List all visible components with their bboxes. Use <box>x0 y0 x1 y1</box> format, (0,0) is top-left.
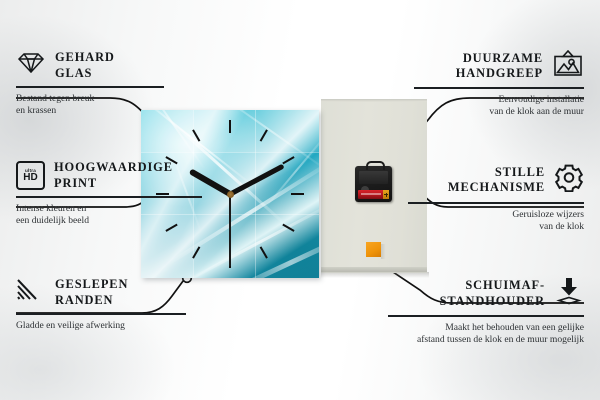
second-hand <box>229 194 231 266</box>
feature-title-line2: STANDHOUDER <box>440 294 545 308</box>
feature-header: ultra HD HOOGWAARDIGEPRINT <box>16 160 202 191</box>
feature-description: Bestand tegen breuk en krassen <box>16 93 186 117</box>
feature-title-line2: RANDEN <box>55 293 113 307</box>
feature-title: GEHARDGLAS <box>55 50 115 81</box>
back-plate-bottom-edge <box>321 267 427 272</box>
feature-divider <box>388 315 584 317</box>
infographic-canvas: GEHARDGLAS Bestand tegen breuk en krasse… <box>0 0 600 400</box>
feature-desc-line1: Eenvoudige installatie <box>498 94 584 105</box>
movement-panel <box>359 171 388 184</box>
feature-divider <box>408 202 584 204</box>
feature-duurzame-handgreep: DUURZAMEHANDGREEP Eenvoudige installatie… <box>414 50 584 118</box>
hour-marker <box>260 129 268 141</box>
feature-description: Geruisloze wijzers van de klok <box>454 209 584 233</box>
diamond-icon <box>16 51 46 80</box>
battery <box>358 190 389 199</box>
feature-title-line1: GESLEPEN <box>55 277 128 291</box>
feature-header: DUURZAMEHANDGREEP <box>414 50 584 82</box>
beveled-edges-icon <box>16 278 46 307</box>
feature-title-line2: HANDGREEP <box>456 66 543 80</box>
hanging-picture-icon <box>552 50 584 82</box>
feature-hoogwaardige-print: ultra HD HOOGWAARDIGEPRINT Intense kleur… <box>16 160 202 227</box>
hour-marker <box>282 224 294 232</box>
feature-desc-line2: een duidelijk beeld <box>16 215 89 226</box>
foam-pad-side <box>381 244 386 259</box>
feature-header: GEHARDGLAS <box>16 50 186 81</box>
feature-title: SCHUIMAF-STANDHOUDER <box>440 278 545 309</box>
hour-marker <box>192 246 200 258</box>
foam-spacer-pad <box>366 242 381 257</box>
spacer-arrow-icon <box>554 277 584 310</box>
feature-divider <box>414 87 584 89</box>
hour-marker <box>291 193 304 195</box>
feature-desc-line2: van de klok aan de muur <box>489 106 584 117</box>
feature-header: SCHUIMAF-STANDHOUDER <box>404 277 584 310</box>
feature-desc-line1: Gladde en veilige afwerking <box>16 320 125 331</box>
ultra-hd-icon-main-text: HD <box>23 173 37 183</box>
feature-title: STILLEMECHANISME <box>448 165 545 196</box>
feature-desc-line2: van de klok <box>539 221 584 232</box>
clock-center-cap <box>227 191 234 198</box>
feature-desc-line1: Intense kleuren en <box>16 203 86 214</box>
battery-plus-terminal <box>383 190 389 199</box>
feature-title: HOOGWAARDIGEPRINT <box>54 160 173 191</box>
feature-divider <box>16 196 202 198</box>
back-plate-top-edge <box>321 99 427 102</box>
feature-title-line1: GEHARD <box>55 50 115 64</box>
feature-desc-line1: Maakt het behouden van een gelijke <box>445 322 584 333</box>
battery-label-stripe <box>361 193 381 195</box>
feature-title-line1: SCHUIMAF- <box>465 278 545 292</box>
feature-desc-line1: Bestand tegen breuk <box>16 93 94 104</box>
hour-marker <box>260 246 268 258</box>
hour-marker <box>229 120 231 133</box>
feature-divider <box>16 86 164 88</box>
hanging-hook <box>366 161 385 170</box>
feature-header: STILLEMECHANISME <box>454 163 584 197</box>
feature-title-line2: GLAS <box>55 66 92 80</box>
feature-description: Gladde en veilige afwerking <box>16 320 186 332</box>
feature-schuimafstandhouder: SCHUIMAF-STANDHOUDER Maakt het behouden … <box>404 277 584 346</box>
hour-marker <box>192 129 200 141</box>
clock-movement <box>355 166 392 202</box>
feature-description: Intense kleuren en een duidelijk beeld <box>16 203 202 227</box>
feature-gehard-glas: GEHARDGLAS Bestand tegen breuk en krasse… <box>16 50 186 117</box>
ultra-hd-icon: ultra HD <box>16 161 45 190</box>
gear-icon <box>554 163 584 197</box>
hour-marker <box>282 156 294 164</box>
feature-stille-mechanisme: STILLEMECHANISME Geruisloze wijzers van … <box>454 163 584 233</box>
feature-desc-line2: en krassen <box>16 105 56 116</box>
feature-title-line1: DUURZAME <box>463 51 543 65</box>
feature-geslepen-randen: GESLEPENRANDEN Gladde en veilige afwerki… <box>16 277 186 332</box>
feature-title-line1: HOOGWAARDIGE <box>54 160 173 174</box>
feature-description: Eenvoudige installatie van de klok aan d… <box>414 94 584 118</box>
feature-header: GESLEPENRANDEN <box>16 277 186 308</box>
feature-title-line2: MECHANISME <box>448 180 545 194</box>
feature-divider <box>16 313 186 315</box>
feature-title: GESLEPENRANDEN <box>55 277 128 308</box>
feature-title-line1: STILLE <box>495 165 545 179</box>
feature-desc-line2: afstand tussen de klok en de muur mogeli… <box>417 334 584 345</box>
feature-title-line2: PRINT <box>54 176 97 190</box>
feature-description: Maakt het behouden van een gelijke afsta… <box>404 322 584 346</box>
feature-desc-line1: Geruisloze wijzers <box>512 209 584 220</box>
feature-title: DUURZAMEHANDGREEP <box>456 51 543 82</box>
